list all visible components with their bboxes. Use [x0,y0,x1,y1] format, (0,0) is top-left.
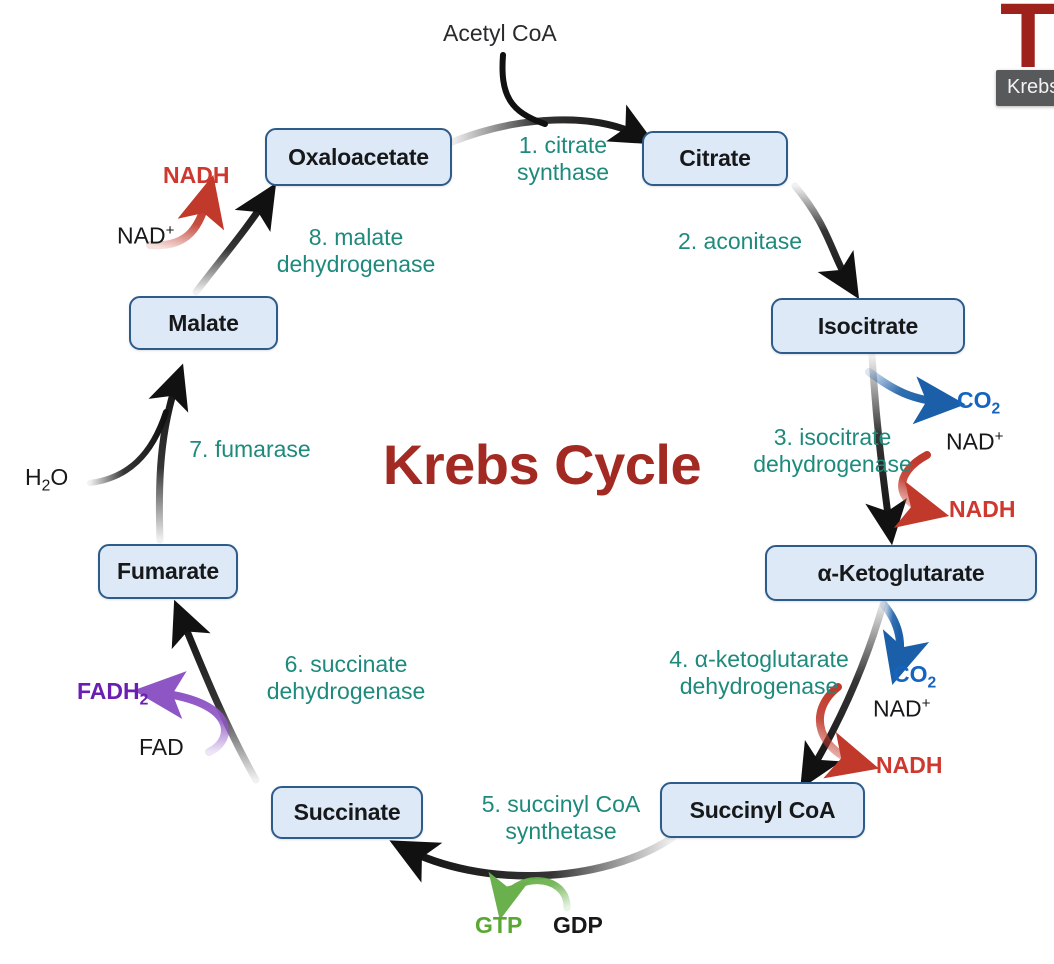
node-succinyl-coa[interactable]: Succinyl CoA [660,782,865,838]
node-isocitrate-label: Isocitrate [818,313,918,340]
label-nad-step-8: NAD+ [117,222,174,250]
arrow-co2-step-3 [869,372,948,403]
overlay-tooltip[interactable]: Krebs [996,70,1054,106]
label-acetyl-coa: Acetyl CoA [443,20,557,47]
node-succinate[interactable]: Succinate [271,786,423,839]
node-citrate-label: Citrate [679,145,750,172]
label-gtp: GTP [475,912,522,939]
label-water: H2O [25,464,68,496]
krebs-cycle-diagram: Oxaloacetate Citrate Isocitrate α-Ketogl… [0,0,1054,964]
label-water-h: H [25,464,42,490]
label-nad-step-4-text: NAD [873,696,922,722]
fadh2-subscript: 2 [140,692,149,709]
label-fadh2-text: FADH [77,678,140,704]
co2-subscript-4: 2 [928,675,937,692]
node-citrate[interactable]: Citrate [642,131,788,186]
enzyme-step-8: 8. malate dehydrogenase [256,224,456,277]
node-oxaloacetate[interactable]: Oxaloacetate [265,128,452,186]
diagram-title: Krebs Cycle [352,432,732,497]
label-nadh-step-4: NADH [876,752,942,779]
label-co2-step-3: CO2 [957,387,1000,419]
label-gdp: GDP [553,912,603,939]
node-oxaloacetate-label: Oxaloacetate [288,144,429,171]
node-isocitrate[interactable]: Isocitrate [771,298,965,354]
enzyme-step-4: 4. α-ketoglutarate dehydrogenase [630,646,888,699]
node-succinyl-coa-label: Succinyl CoA [690,797,836,824]
arrow-acetyl-coa-input [502,55,545,124]
node-fumarate[interactable]: Fumarate [98,544,238,599]
label-co2-step-4: CO2 [893,661,936,693]
node-malate[interactable]: Malate [129,296,278,350]
label-nadh-step-3: NADH [949,496,1015,523]
node-succinate-label: Succinate [294,799,401,826]
enzyme-step-6: 6. succinate dehydrogenase [237,651,455,704]
label-nad-step-3-text: NAD [946,429,995,455]
nad-superscript-3: + [995,428,1004,445]
nad-superscript-4: + [922,695,931,712]
node-alpha-ketoglutarate-label: α-Ketoglutarate [817,560,984,587]
label-water-o: O [50,464,68,490]
label-nad-step-3: NAD+ [946,428,1003,456]
node-alpha-ketoglutarate[interactable]: α-Ketoglutarate [765,545,1037,601]
enzyme-step-1: 1. citrate synthase [483,132,643,185]
node-malate-label: Malate [168,310,238,337]
co2-subscript-3: 2 [992,401,1001,418]
label-co2-step-3-text: CO [957,387,992,413]
enzyme-step-3: 3. isocitrate dehydrogenase [730,424,935,477]
enzyme-step-7: 7. fumarase [165,436,335,463]
label-fad: FAD [139,734,184,761]
enzyme-step-2: 2. aconitase [650,228,830,255]
label-fadh2: FADH2 [77,678,148,710]
node-fumarate-label: Fumarate [117,558,219,585]
label-nad-step-8-text: NAD [117,223,166,249]
nad-superscript-8: + [166,222,175,239]
label-nad-step-4: NAD+ [873,695,930,723]
arrow-gtp-step-5 [503,881,567,908]
label-co2-step-4-text: CO [893,661,928,687]
label-nadh-step-8: NADH [163,162,229,189]
enzyme-step-5: 5. succinyl CoA synthetase [457,791,665,844]
arrow-water-input [90,412,166,483]
